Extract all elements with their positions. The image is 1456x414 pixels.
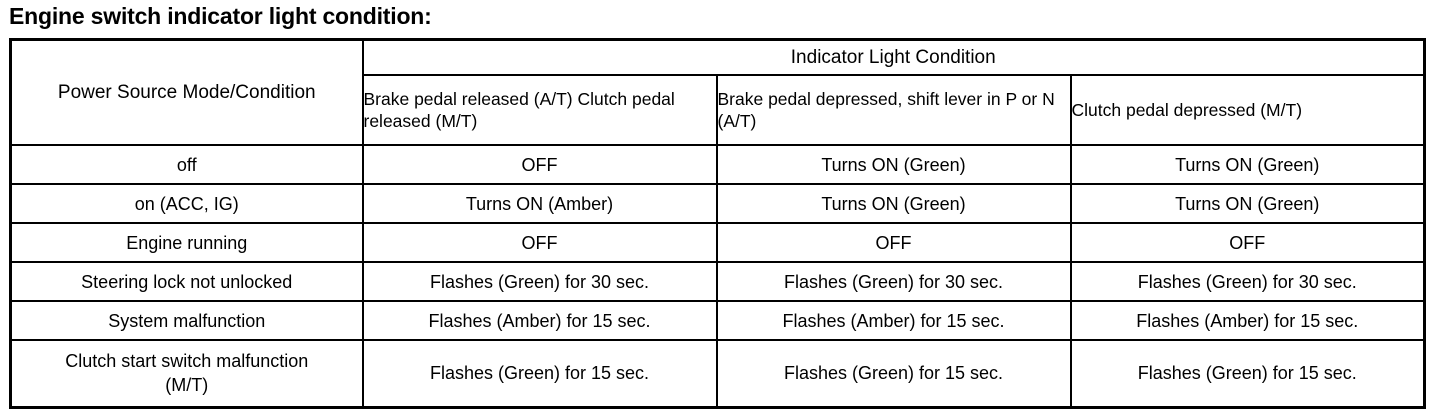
table-row: System malfunction Flashes (Amber) for 1… xyxy=(11,301,1425,340)
row-value-brake-released: Turns ON (Amber) xyxy=(363,184,717,223)
row-mode-label: Engine running xyxy=(11,223,363,262)
row-mode-label: on (ACC, IG) xyxy=(11,184,363,223)
header-col-clutch-depressed: Clutch pedal depressed (M/T) xyxy=(1071,75,1425,145)
header-col-brake-released-line1: Brake pedal released (A/T) xyxy=(364,89,573,109)
row-value-brake-depressed: Turns ON (Green) xyxy=(717,145,1071,184)
row-mode-label: Steering lock not unlocked xyxy=(11,262,363,301)
row-value-brake-released: Flashes (Green) for 30 sec. xyxy=(363,262,717,301)
header-col-clutch-depressed-line1: Clutch pedal depressed (M/T) xyxy=(1072,100,1303,120)
row-mode-label: off xyxy=(11,145,363,184)
row-value-brake-depressed: OFF xyxy=(717,223,1071,262)
row-value-clutch-depressed: Turns ON (Green) xyxy=(1071,184,1425,223)
table-row: Clutch start switch malfunction (M/T) Fl… xyxy=(11,340,1425,407)
row-mode-label: System malfunction xyxy=(11,301,363,340)
row-value-clutch-depressed: Flashes (Amber) for 15 sec. xyxy=(1071,301,1425,340)
header-col-brake-depressed: Brake pedal depressed, shift lever in P … xyxy=(717,75,1071,145)
row-value-clutch-depressed: Flashes (Green) for 30 sec. xyxy=(1071,262,1425,301)
header-col-brake-released: Brake pedal released (A/T) Clutch pedal … xyxy=(363,75,717,145)
spec-table-container: Power Source Mode/Condition Indicator Li… xyxy=(9,38,1423,409)
row-value-brake-released: OFF xyxy=(363,223,717,262)
row-value-clutch-depressed: Flashes (Green) for 15 sec. xyxy=(1071,340,1425,407)
table-row: Steering lock not unlocked Flashes (Gree… xyxy=(11,262,1425,301)
row-value-brake-released: OFF xyxy=(363,145,717,184)
header-col-brake-depressed-line1: Brake pedal depressed, shift xyxy=(718,89,940,109)
row-value-brake-depressed: Flashes (Green) for 30 sec. xyxy=(717,262,1071,301)
row-value-brake-depressed: Turns ON (Green) xyxy=(717,184,1071,223)
header-indicator-light-condition: Indicator Light Condition xyxy=(363,40,1425,76)
table-row: off OFF Turns ON (Green) Turns ON (Green… xyxy=(11,145,1425,184)
row-value-clutch-depressed: OFF xyxy=(1071,223,1425,262)
row-value-clutch-depressed: Turns ON (Green) xyxy=(1071,145,1425,184)
row-value-brake-released: Flashes (Amber) for 15 sec. xyxy=(363,301,717,340)
row-mode-label-line2: (M/T) xyxy=(12,373,362,397)
row-value-brake-depressed: Flashes (Green) for 15 sec. xyxy=(717,340,1071,407)
page-title: Engine switch indicator light condition: xyxy=(9,2,432,30)
row-mode-label: Clutch start switch malfunction (M/T) xyxy=(11,340,363,407)
engine-switch-indicator-table: Power Source Mode/Condition Indicator Li… xyxy=(9,38,1426,409)
header-power-source-mode-condition: Power Source Mode/Condition xyxy=(11,40,363,146)
row-mode-label-line1: Clutch start switch malfunction xyxy=(12,349,362,373)
table-row: on (ACC, IG) Turns ON (Amber) Turns ON (… xyxy=(11,184,1425,223)
table-header-row-group: Power Source Mode/Condition Indicator Li… xyxy=(11,40,1425,76)
row-value-brake-depressed: Flashes (Amber) for 15 sec. xyxy=(717,301,1071,340)
document-page: Engine switch indicator light condition:… xyxy=(0,0,1456,414)
row-value-brake-released: Flashes (Green) for 15 sec. xyxy=(363,340,717,407)
table-row: Engine running OFF OFF OFF xyxy=(11,223,1425,262)
